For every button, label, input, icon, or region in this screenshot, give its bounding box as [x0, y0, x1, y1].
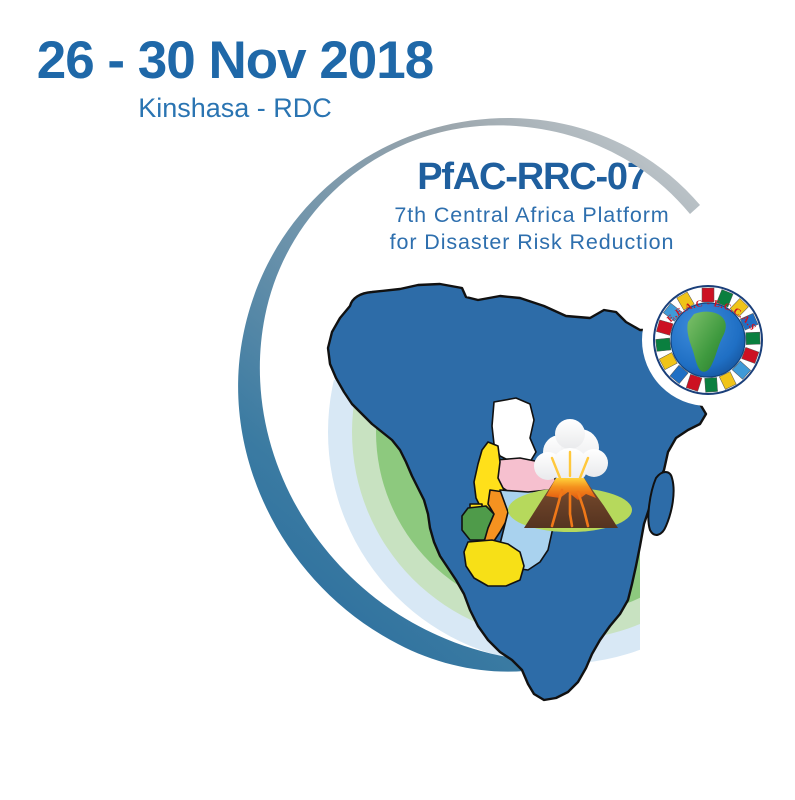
- poster-canvas: 26 - 30 Nov 2018 Kinshasa - RDC PfAC-RRC…: [0, 0, 795, 800]
- eccas-ceeac-emblem: C.E.E.A.C - E.C.C.A.S: [642, 274, 774, 406]
- poster-artwork: C.E.E.A.C - E.C.C.A.S: [0, 0, 795, 800]
